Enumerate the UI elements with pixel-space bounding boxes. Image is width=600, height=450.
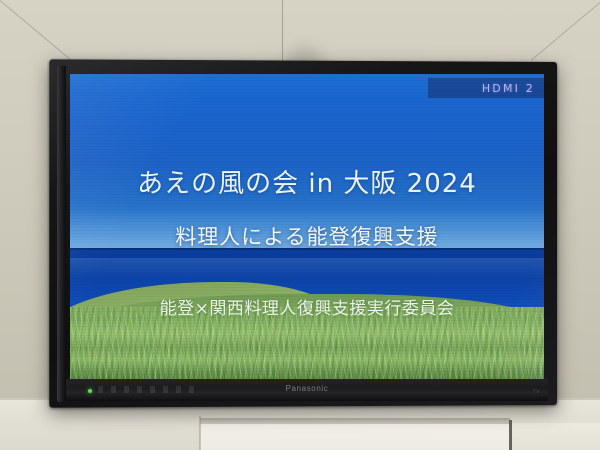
tv-screen[interactable]: あえの風の会 in 大阪 2024 料理人による能登復興支援 能登×関西料理人復…	[70, 74, 544, 380]
cabinet-divider-left	[199, 416, 201, 450]
cabinet-recess-lip	[200, 418, 510, 424]
osd-input-label: HDMI 2	[482, 82, 535, 95]
slide-title: あえの風の会 in 大阪 2024	[70, 163, 544, 200]
television[interactable]: あえの風の会 in 大阪 2024 料理人による能登復興支援 能登×関西料理人復…	[57, 62, 557, 405]
slide-committee-name: 能登×関西料理人復興支援実行委員会	[70, 294, 544, 319]
tv-bottom-bezel: Panasonic TV	[66, 379, 548, 401]
cabinet-divider-right	[509, 420, 512, 450]
slide-text-layer: あえの風の会 in 大阪 2024 料理人による能登復興支援 能登×関西料理人復…	[70, 74, 544, 380]
brand-logo: Panasonic	[66, 384, 548, 393]
bezel-side-label: TV	[533, 389, 540, 395]
slide-subtitle: 料理人による能登復興支援	[70, 221, 544, 251]
osd-input-banner: HDMI 2	[428, 78, 544, 98]
cabinet-right-panel	[512, 423, 600, 450]
tv-bezel-left-edge	[57, 66, 66, 402]
